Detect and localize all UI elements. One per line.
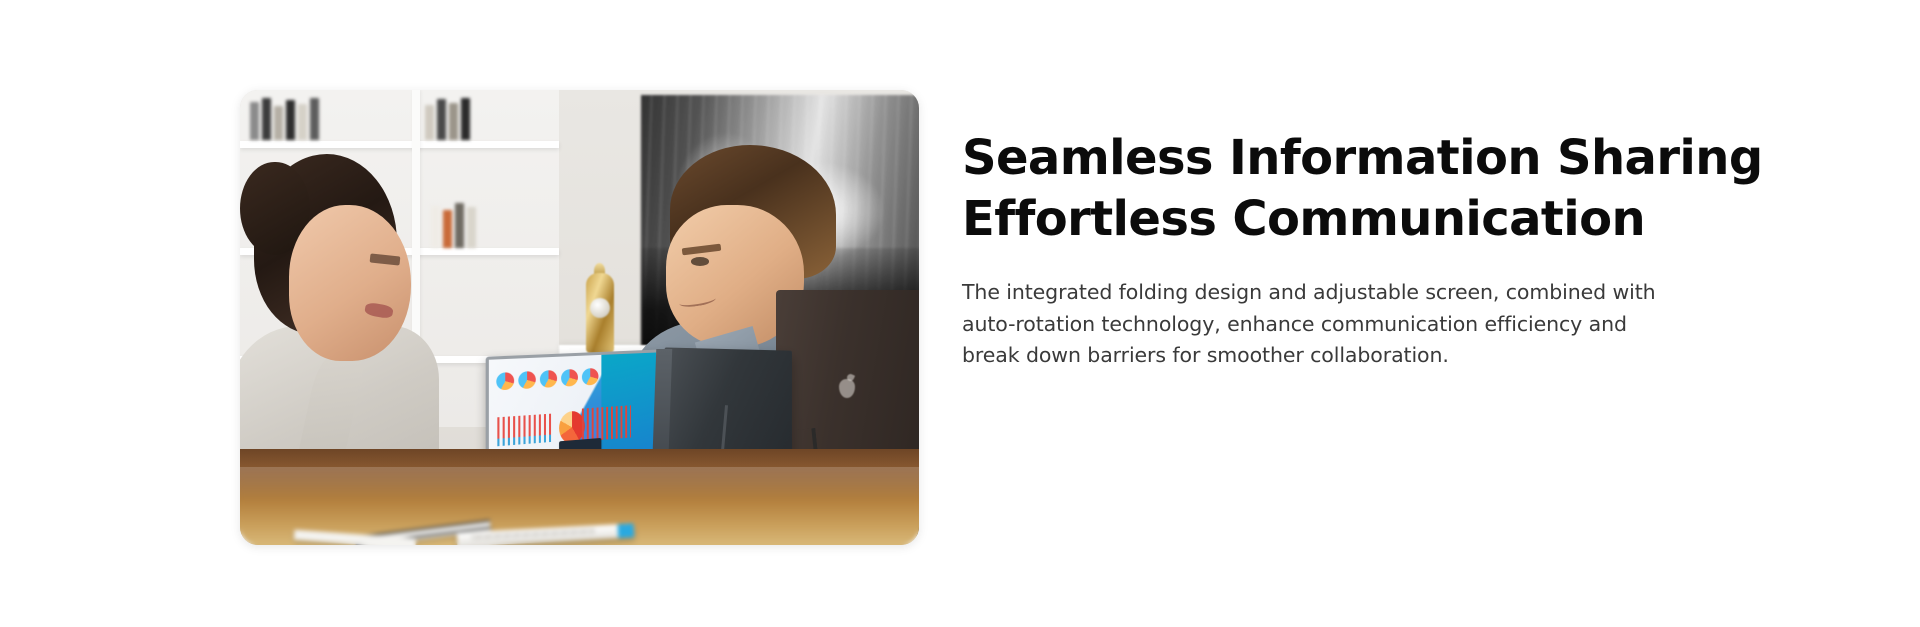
dashboard-donut-chart	[558, 410, 584, 444]
feature-copy: Seamless Information Sharing Effortless …	[962, 128, 1702, 372]
page-title: Seamless Information Sharing Effortless …	[962, 128, 1702, 251]
feature-description: The integrated folding design and adjust…	[962, 277, 1662, 372]
shelf-board	[240, 141, 559, 148]
desk-sheen	[240, 467, 919, 499]
headline-line-1: Seamless Information Sharing	[962, 128, 1702, 189]
feature-image	[240, 90, 919, 545]
wooden-desk	[240, 449, 919, 545]
woman-face	[289, 205, 411, 362]
photo-scene	[240, 90, 919, 545]
dashboard-kpi-donuts	[496, 368, 598, 391]
dashboard-sparkline-chart	[582, 405, 631, 441]
magazine-content	[471, 528, 595, 542]
book-row	[425, 97, 470, 141]
feature-section: Seamless Information Sharing Effortless …	[0, 0, 1920, 627]
apple-logo-icon	[839, 379, 855, 398]
headline-line-2: Effortless Communication	[962, 189, 1702, 250]
book-row	[250, 97, 319, 141]
gold-mantel-clock	[583, 265, 617, 357]
